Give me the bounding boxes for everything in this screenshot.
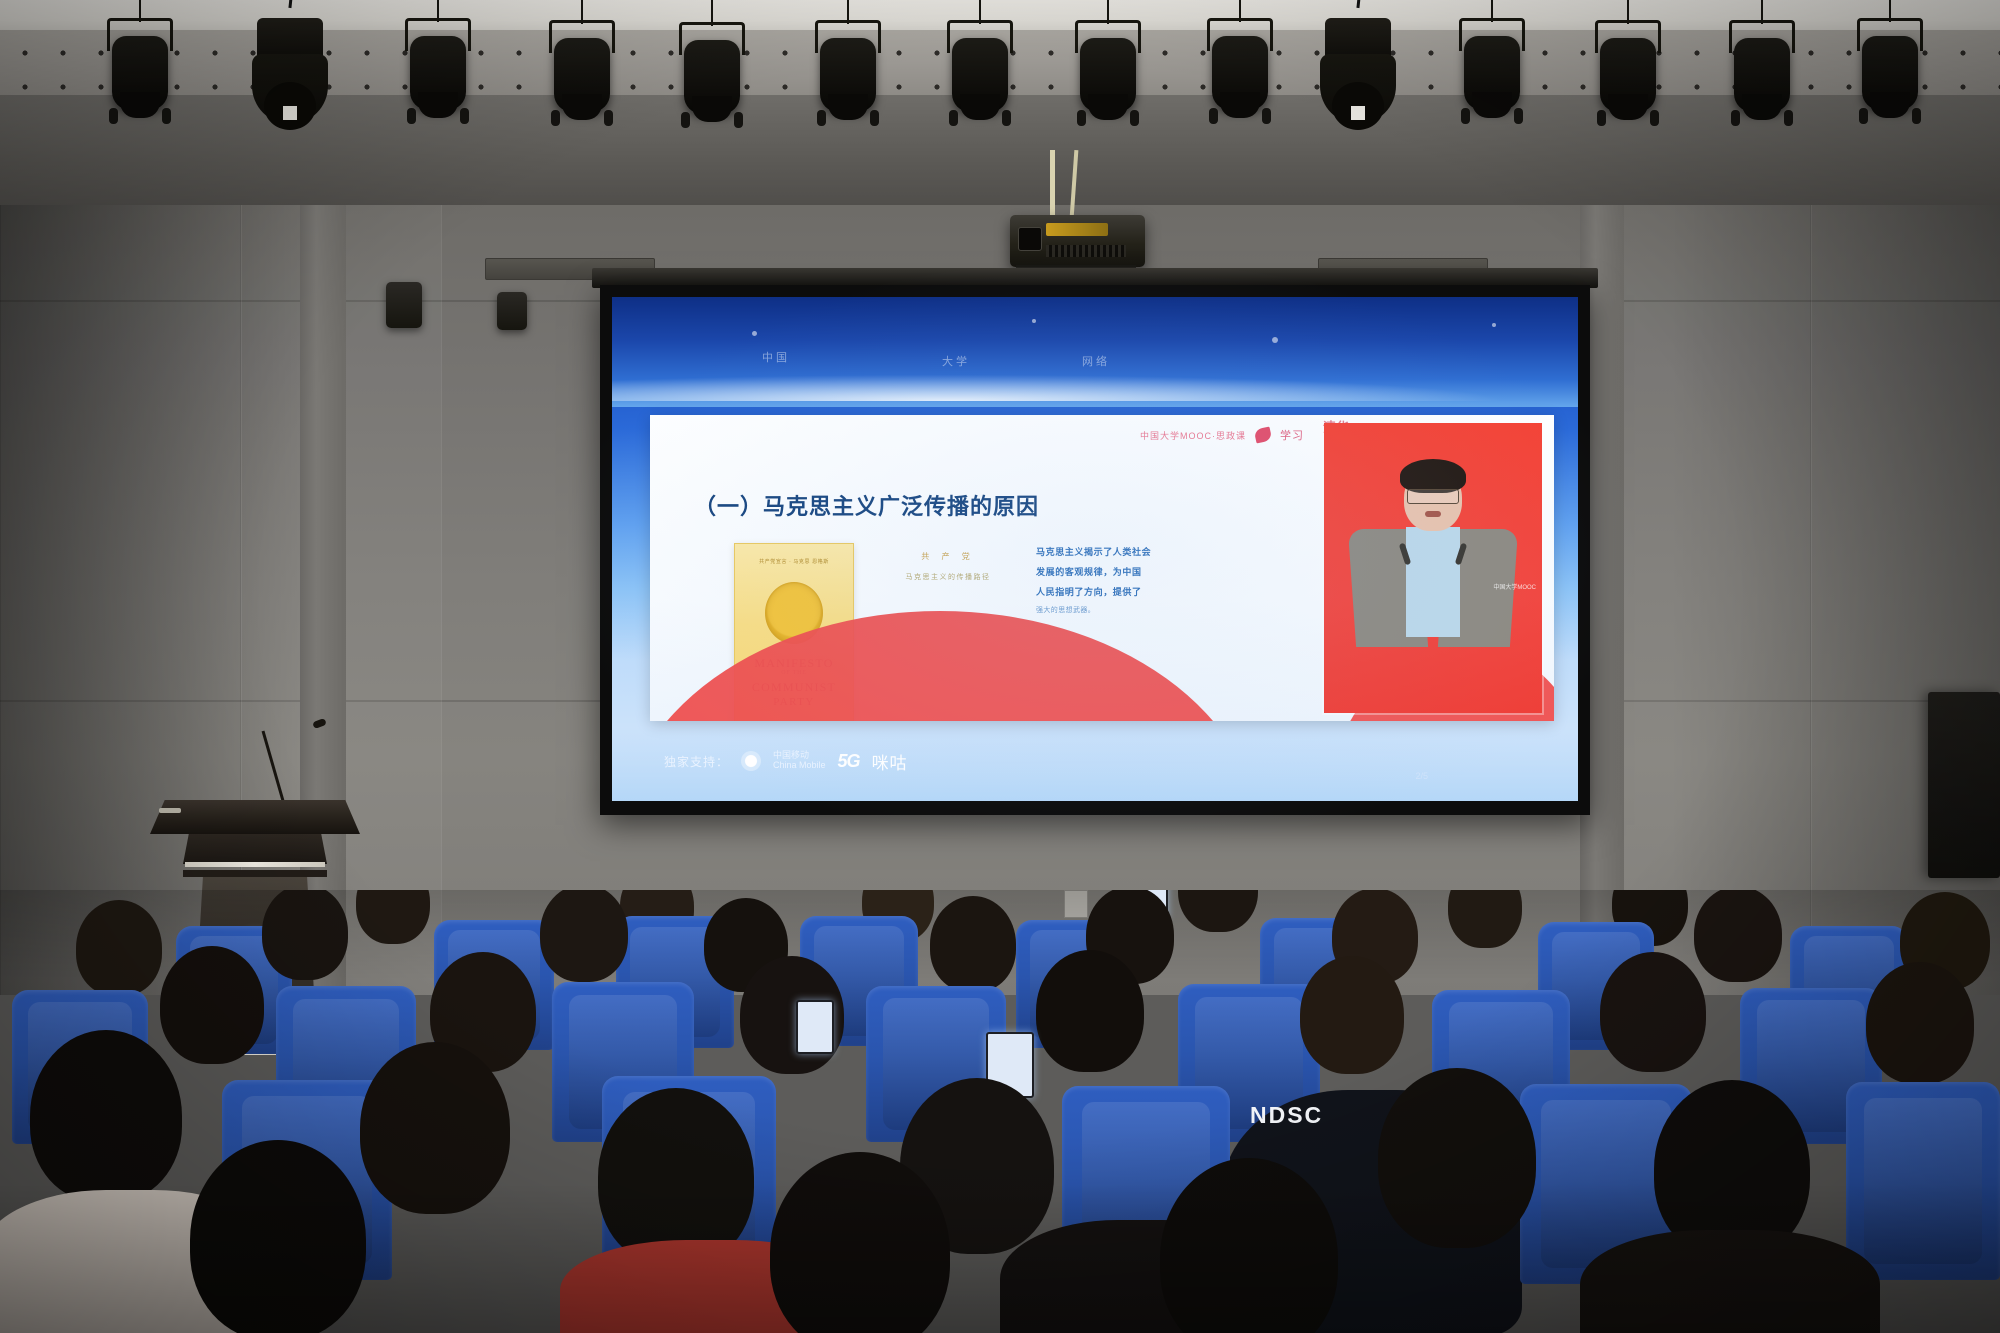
book-header-text: 共产党宣言 · 马克思 恩格斯 — [735, 558, 853, 565]
right-column-line-2: 发展的客观规律，为中国 — [1036, 565, 1206, 578]
audience-head-d2 — [360, 1042, 510, 1214]
middle-column-heading: 共 产 党 — [878, 551, 1018, 562]
audience-head-c1 — [160, 946, 264, 1064]
moving-head-label — [283, 106, 297, 120]
podium-shadow-band — [183, 870, 327, 877]
audience-head-b7 — [1694, 890, 1782, 982]
projector-lens — [1018, 227, 1042, 251]
brand-line-2: China Mobile — [773, 760, 826, 770]
mooc-course-label: 中国大学MOOC·思政课 — [1140, 429, 1246, 442]
audience-head-d5 — [1378, 1068, 1536, 1248]
ceiling-projector — [1010, 215, 1145, 267]
podium-top — [150, 800, 360, 834]
podium-reading-light — [159, 808, 181, 813]
phone-held-mid — [796, 1000, 834, 1054]
audience-head-a6 — [356, 890, 430, 944]
learn-logo-label: 学习 — [1280, 427, 1304, 443]
hoodie-text: NDSC — [1250, 1102, 1323, 1129]
lecturer-glasses — [1407, 489, 1459, 504]
light-lens — [120, 92, 160, 118]
slide-middle-column: 共 产 党 马克思主义的传播路径 — [878, 551, 1018, 582]
slide-page-number: 2/5 — [1415, 771, 1428, 781]
lecturer-mouth — [1425, 511, 1441, 517]
audience-head-b1 — [262, 890, 348, 980]
audience-head-a2 — [1178, 890, 1258, 932]
brand-line-1: 中国移动 — [773, 750, 809, 760]
migu-platform-label: 咪咕 — [872, 749, 908, 774]
china-mobile-icon — [741, 751, 761, 771]
china-mobile-brand: 中国移动 China Mobile — [773, 751, 826, 771]
auditorium-scene: 中国 大学 网络 中国大学MOOC·思政课 学习 清华 大学 （一）马 — [0, 0, 2000, 1333]
slide-content-card: 中国大学MOOC·思政课 学习 清华 大学 （一）马克思主义广泛传播的原因 共产… — [650, 415, 1554, 721]
slide-right-column: 马克思主义揭示了人类社会 发展的客观规律，为中国 人民指明了方向，提供了 强大的… — [1036, 545, 1206, 622]
slide-header-logos: 中国大学MOOC·思政课 学习 — [1140, 427, 1304, 443]
screen-surface: 中国 大学 网络 中国大学MOOC·思政课 学习 清华 大学 （一）马 — [612, 297, 1578, 801]
network-5g-label: 5G — [838, 751, 860, 772]
video-corner-tag: 中国大学MOOC — [1493, 582, 1536, 591]
right-column-line-3: 人民指明了方向，提供了 — [1036, 585, 1206, 598]
lecturer-shirt — [1406, 527, 1460, 637]
podium-accent-stripe — [185, 862, 325, 867]
footer-support-label: 独家支持： — [664, 753, 729, 770]
lecturer-hair — [1400, 459, 1466, 493]
audience-head-b9 — [76, 900, 162, 996]
audience-head-c4 — [1036, 950, 1144, 1072]
slide-top-band: 中国 大学 网络 — [612, 297, 1578, 407]
audience-head-e1 — [190, 1140, 366, 1333]
right-column-line-1: 马克思主义揭示了人类社会 — [1036, 545, 1206, 558]
flame-logo-icon — [1254, 426, 1273, 443]
projector-label-strip — [1046, 223, 1108, 236]
projector-pole-mount — [1050, 150, 1055, 218]
wall-shadow-right — [1670, 205, 2000, 995]
audience-shoulder-dark-2 — [1580, 1230, 1880, 1333]
ceiling-speaker-left — [386, 282, 422, 328]
middle-column-subtext: 马克思主义的传播路径 — [878, 572, 1018, 582]
band-glyph-2: 大学 — [942, 353, 970, 369]
audience-head-a3 — [1448, 890, 1522, 948]
band-glyph-1: 中国 — [762, 349, 790, 365]
band-glyph-3: 网络 — [1082, 353, 1110, 369]
slide-title: （一）马克思主义广泛传播的原因 — [694, 489, 1039, 521]
audience-head-c7 — [1866, 962, 1974, 1084]
projector-vent — [1046, 245, 1126, 257]
podium-neck — [183, 834, 327, 864]
audience-head-d1 — [30, 1030, 182, 1202]
audience-head-c6 — [1600, 952, 1706, 1072]
projection-screen: 中国 大学 网络 中国大学MOOC·思政课 学习 清华 大学 （一）马 — [600, 285, 1590, 815]
audience-head-b4 — [930, 896, 1016, 992]
audience-head-b2 — [540, 890, 628, 982]
lecturer-video-feed: 中国大学MOOC — [1324, 423, 1542, 713]
audience-head-c5 — [1300, 956, 1404, 1074]
slide-canvas: 中国 大学 网络 中国大学MOOC·思政课 学习 清华 大学 （一）马 — [612, 297, 1578, 801]
seat-r3-5 — [1846, 1082, 2000, 1280]
slide-band-glow — [612, 371, 1578, 401]
audience-section: NDSC — [0, 890, 2000, 1333]
right-column-line-4: 强大的思想武器。 — [1036, 605, 1206, 615]
ceiling-speaker-left-2 — [497, 292, 527, 330]
